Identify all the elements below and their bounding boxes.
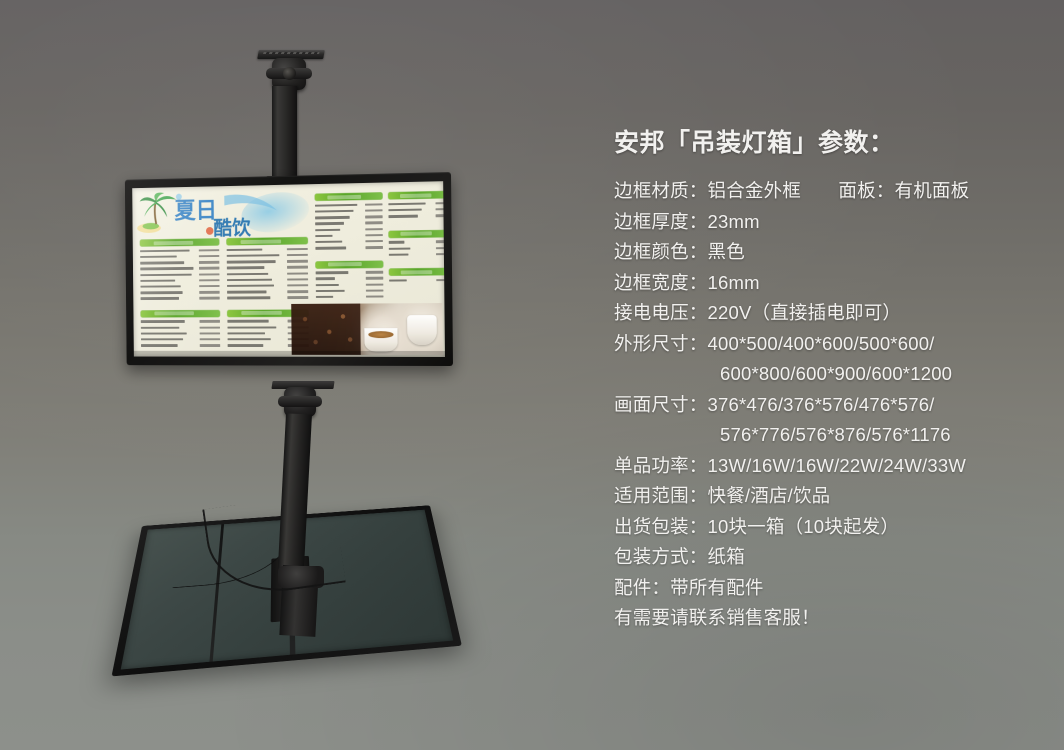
menu-section-header (316, 260, 384, 268)
spec-line: 配件：带所有配件 (614, 573, 1034, 604)
menu-item-row (227, 259, 308, 264)
menu-item-row (227, 247, 308, 252)
coffee-cup (364, 328, 397, 352)
menu-section-header (227, 237, 308, 245)
menu-item-row (141, 326, 220, 330)
menu-item-row (140, 266, 219, 271)
coffee-cup (407, 315, 437, 345)
menu-item-row (141, 338, 220, 342)
menu-item-row (141, 296, 220, 300)
menu-item-row (389, 252, 445, 257)
poster-watermark-strip (134, 351, 445, 357)
spec-line: 有需要请联系销售客服！ (614, 603, 1034, 634)
spec-line: 接电电压：220V（直接插电即可） (614, 298, 1034, 329)
lightbox-aluminium-frame: 夏日 酷饮 (125, 172, 453, 366)
spec-line: 出货包装：10块一箱（10块起发） (614, 512, 1034, 543)
menu-section-header (389, 268, 445, 276)
menu-section-header (141, 310, 220, 317)
spec-line: 单品功率：13W/16W/16W/22W/24W/33W (614, 451, 1034, 482)
spec-line: 600*800/600*900/600*1200 (614, 359, 1034, 390)
menu-item-row (389, 278, 445, 283)
menu-item-row (141, 320, 220, 324)
menu-item-row (140, 284, 219, 289)
menu-column (388, 191, 445, 285)
menu-item-row (141, 332, 220, 336)
menu-item-row (140, 272, 219, 277)
spec-line: 适用范围：快餐/酒店/饮品 (614, 481, 1034, 512)
product-photo-scene: 夏日 酷饮 (0, 0, 1064, 750)
spec-title: 安邦「吊装灯箱」参数： (614, 128, 1034, 158)
specification-panel: 安邦「吊装灯箱」参数： 边框材质：铝合金外框 面板：有机面板边框厚度：23mm边… (614, 128, 1034, 634)
menu-item-row (227, 265, 308, 270)
menu-item-row (316, 276, 384, 281)
menu-item-row (389, 246, 445, 251)
menu-section-header (315, 192, 383, 200)
spec-line: 外形尺寸：400*500/400*600/500*600/ (614, 329, 1034, 360)
menu-item-row (315, 239, 383, 244)
spec-line: 576*776/576*876/576*1176 (614, 420, 1034, 451)
menu-item-row (227, 253, 308, 258)
lightbox-face-panel: 夏日 酷饮 (132, 181, 445, 357)
menu-item-row (316, 295, 384, 299)
menu-item-row (316, 270, 384, 275)
menu-item-row (388, 213, 445, 218)
menu-item-row (141, 344, 220, 348)
menu-section-header (389, 230, 445, 238)
menu-item-row (315, 233, 383, 238)
menu-section-header (388, 191, 445, 199)
menu-item-row (315, 202, 383, 207)
menu-item-row (389, 240, 445, 245)
menu-item-row (316, 289, 384, 293)
hanging-power-cable (202, 491, 346, 600)
spec-line: 画面尺寸：376*476/376*576/476*576/ (614, 390, 1034, 421)
menu-item-row (315, 245, 383, 250)
spec-line: 边框宽度：16mm (614, 268, 1034, 299)
menu-column (140, 239, 220, 350)
spec-list: 边框材质：铝合金外框 面板：有机面板边框厚度：23mm边框颜色：黑色边框宽度：1… (614, 176, 1034, 634)
menu-item-row (315, 209, 383, 214)
menu-item-row (315, 215, 383, 220)
menu-column (315, 192, 384, 301)
upper-lightbox-menu-display: 夏日 酷饮 (125, 172, 453, 366)
svg-text:酷饮: 酷饮 (213, 216, 251, 239)
menu-item-row (316, 282, 384, 287)
menu-item-row (227, 296, 308, 300)
menu-item-row (227, 271, 308, 276)
menu-item-row (140, 254, 219, 259)
menu-item-row (388, 201, 445, 206)
poster-title-art: 夏日 酷饮 (172, 190, 296, 239)
menu-item-row (140, 290, 219, 294)
menu-item-row (140, 278, 219, 283)
menu-item-row (227, 289, 308, 294)
coffee-photo (291, 303, 443, 355)
menu-poster: 夏日 酷饮 (132, 181, 445, 357)
menu-item-row (315, 227, 383, 232)
menu-section-header (140, 239, 219, 247)
menu-item-row (388, 207, 445, 212)
menu-item-row (227, 283, 308, 288)
spec-line: 边框材质：铝合金外框 面板：有机面板 (614, 176, 1034, 207)
spec-line: 边框颜色：黑色 (614, 237, 1034, 268)
svg-text:夏日: 夏日 (174, 197, 217, 224)
spec-line: 边框厚度：23mm (614, 207, 1034, 238)
menu-item-row (140, 248, 219, 253)
menu-item-row (227, 277, 308, 282)
menu-item-row (315, 221, 383, 226)
spec-line: 包装方式：纸箱 (614, 542, 1034, 573)
upper-mount-pole (272, 86, 297, 186)
menu-item-row (140, 260, 219, 265)
